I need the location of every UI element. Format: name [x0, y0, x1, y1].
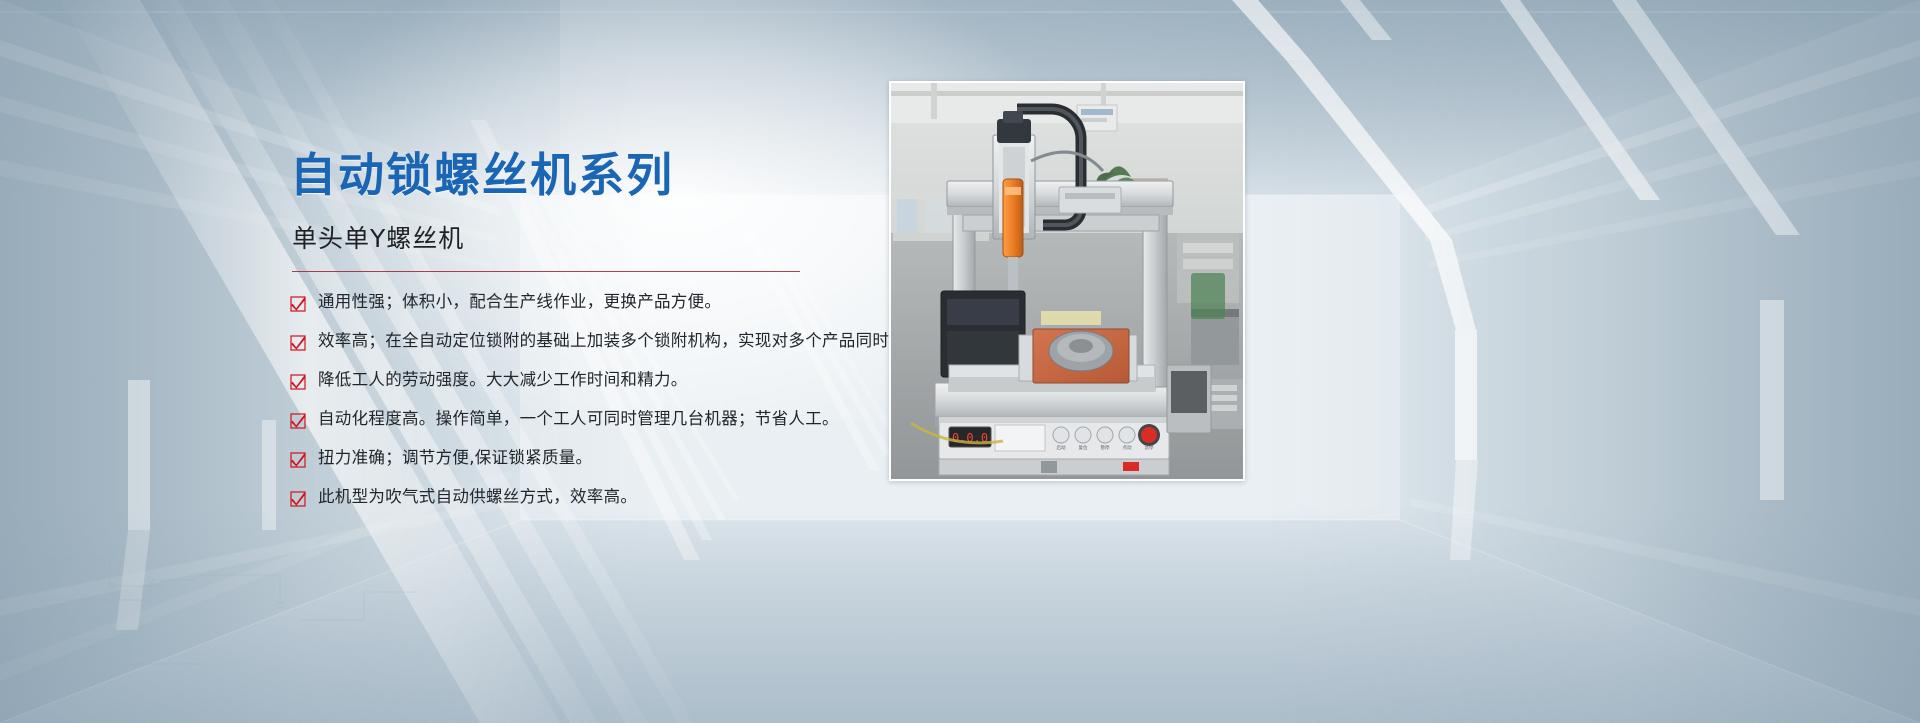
screw-locking-machine-photo: 0.0.0 启动 复位 暂停 点动 急停: [891, 83, 1243, 479]
list-item: 通用性强；体积小，配合生产线作业，更换产品方便。: [290, 292, 890, 312]
check-icon: [290, 335, 306, 351]
list-item: 效率高；在全自动定位锁附的基础上加装多个锁附机构，实现对多个产品同时锁附。: [290, 331, 890, 351]
check-icon: [290, 413, 306, 429]
product-photo: 0.0.0 启动 复位 暂停 点动 急停: [891, 83, 1243, 479]
list-item-label: 自动化程度高。操作简单，一个工人可同时管理几台机器；节省人工。: [318, 409, 839, 429]
list-item-label: 效率高；在全自动定位锁附的基础上加装多个锁附机构，实现对多个产品同时锁附。: [318, 331, 940, 351]
page-subtitle: 单头单Y螺丝机: [292, 219, 890, 255]
check-icon: [290, 491, 306, 507]
list-item-label: 通用性强；体积小，配合生产线作业，更换产品方便。: [318, 292, 721, 312]
list-item-label: 降低工人的劳动强度。大大减少工作时间和精力。: [318, 370, 688, 390]
check-icon: [290, 374, 306, 390]
list-item-label: 此机型为吹气式自动供螺丝方式，效率高。: [318, 487, 637, 507]
list-item-label: 扭力准确；调节方便,保证锁紧质量。: [318, 448, 592, 468]
feature-list: 通用性强；体积小，配合生产线作业，更换产品方便。 效率高；在全自动定位锁附的基础…: [290, 292, 890, 507]
page-title: 自动锁螺丝机系列: [290, 150, 890, 201]
banner-content: 自动锁螺丝机系列 单头单Y螺丝机 通用性强；体积小，配合生产线作业，更换产品方便…: [290, 150, 890, 526]
list-item: 自动化程度高。操作简单，一个工人可同时管理几台机器；节省人工。: [290, 409, 890, 429]
list-item: 此机型为吹气式自动供螺丝方式，效率高。: [290, 487, 890, 507]
title-divider: [292, 271, 800, 272]
list-item: 扭力准确；调节方便,保证锁紧质量。: [290, 448, 890, 468]
check-icon: [290, 296, 306, 312]
product-photo-frame: 0.0.0 启动 复位 暂停 点动 急停: [889, 81, 1245, 481]
list-item: 降低工人的劳动强度。大大减少工作时间和精力。: [290, 370, 890, 390]
check-icon: [290, 452, 306, 468]
product-banner: 自动锁螺丝机系列 单头单Y螺丝机 通用性强；体积小，配合生产线作业，更换产品方便…: [0, 0, 1920, 723]
